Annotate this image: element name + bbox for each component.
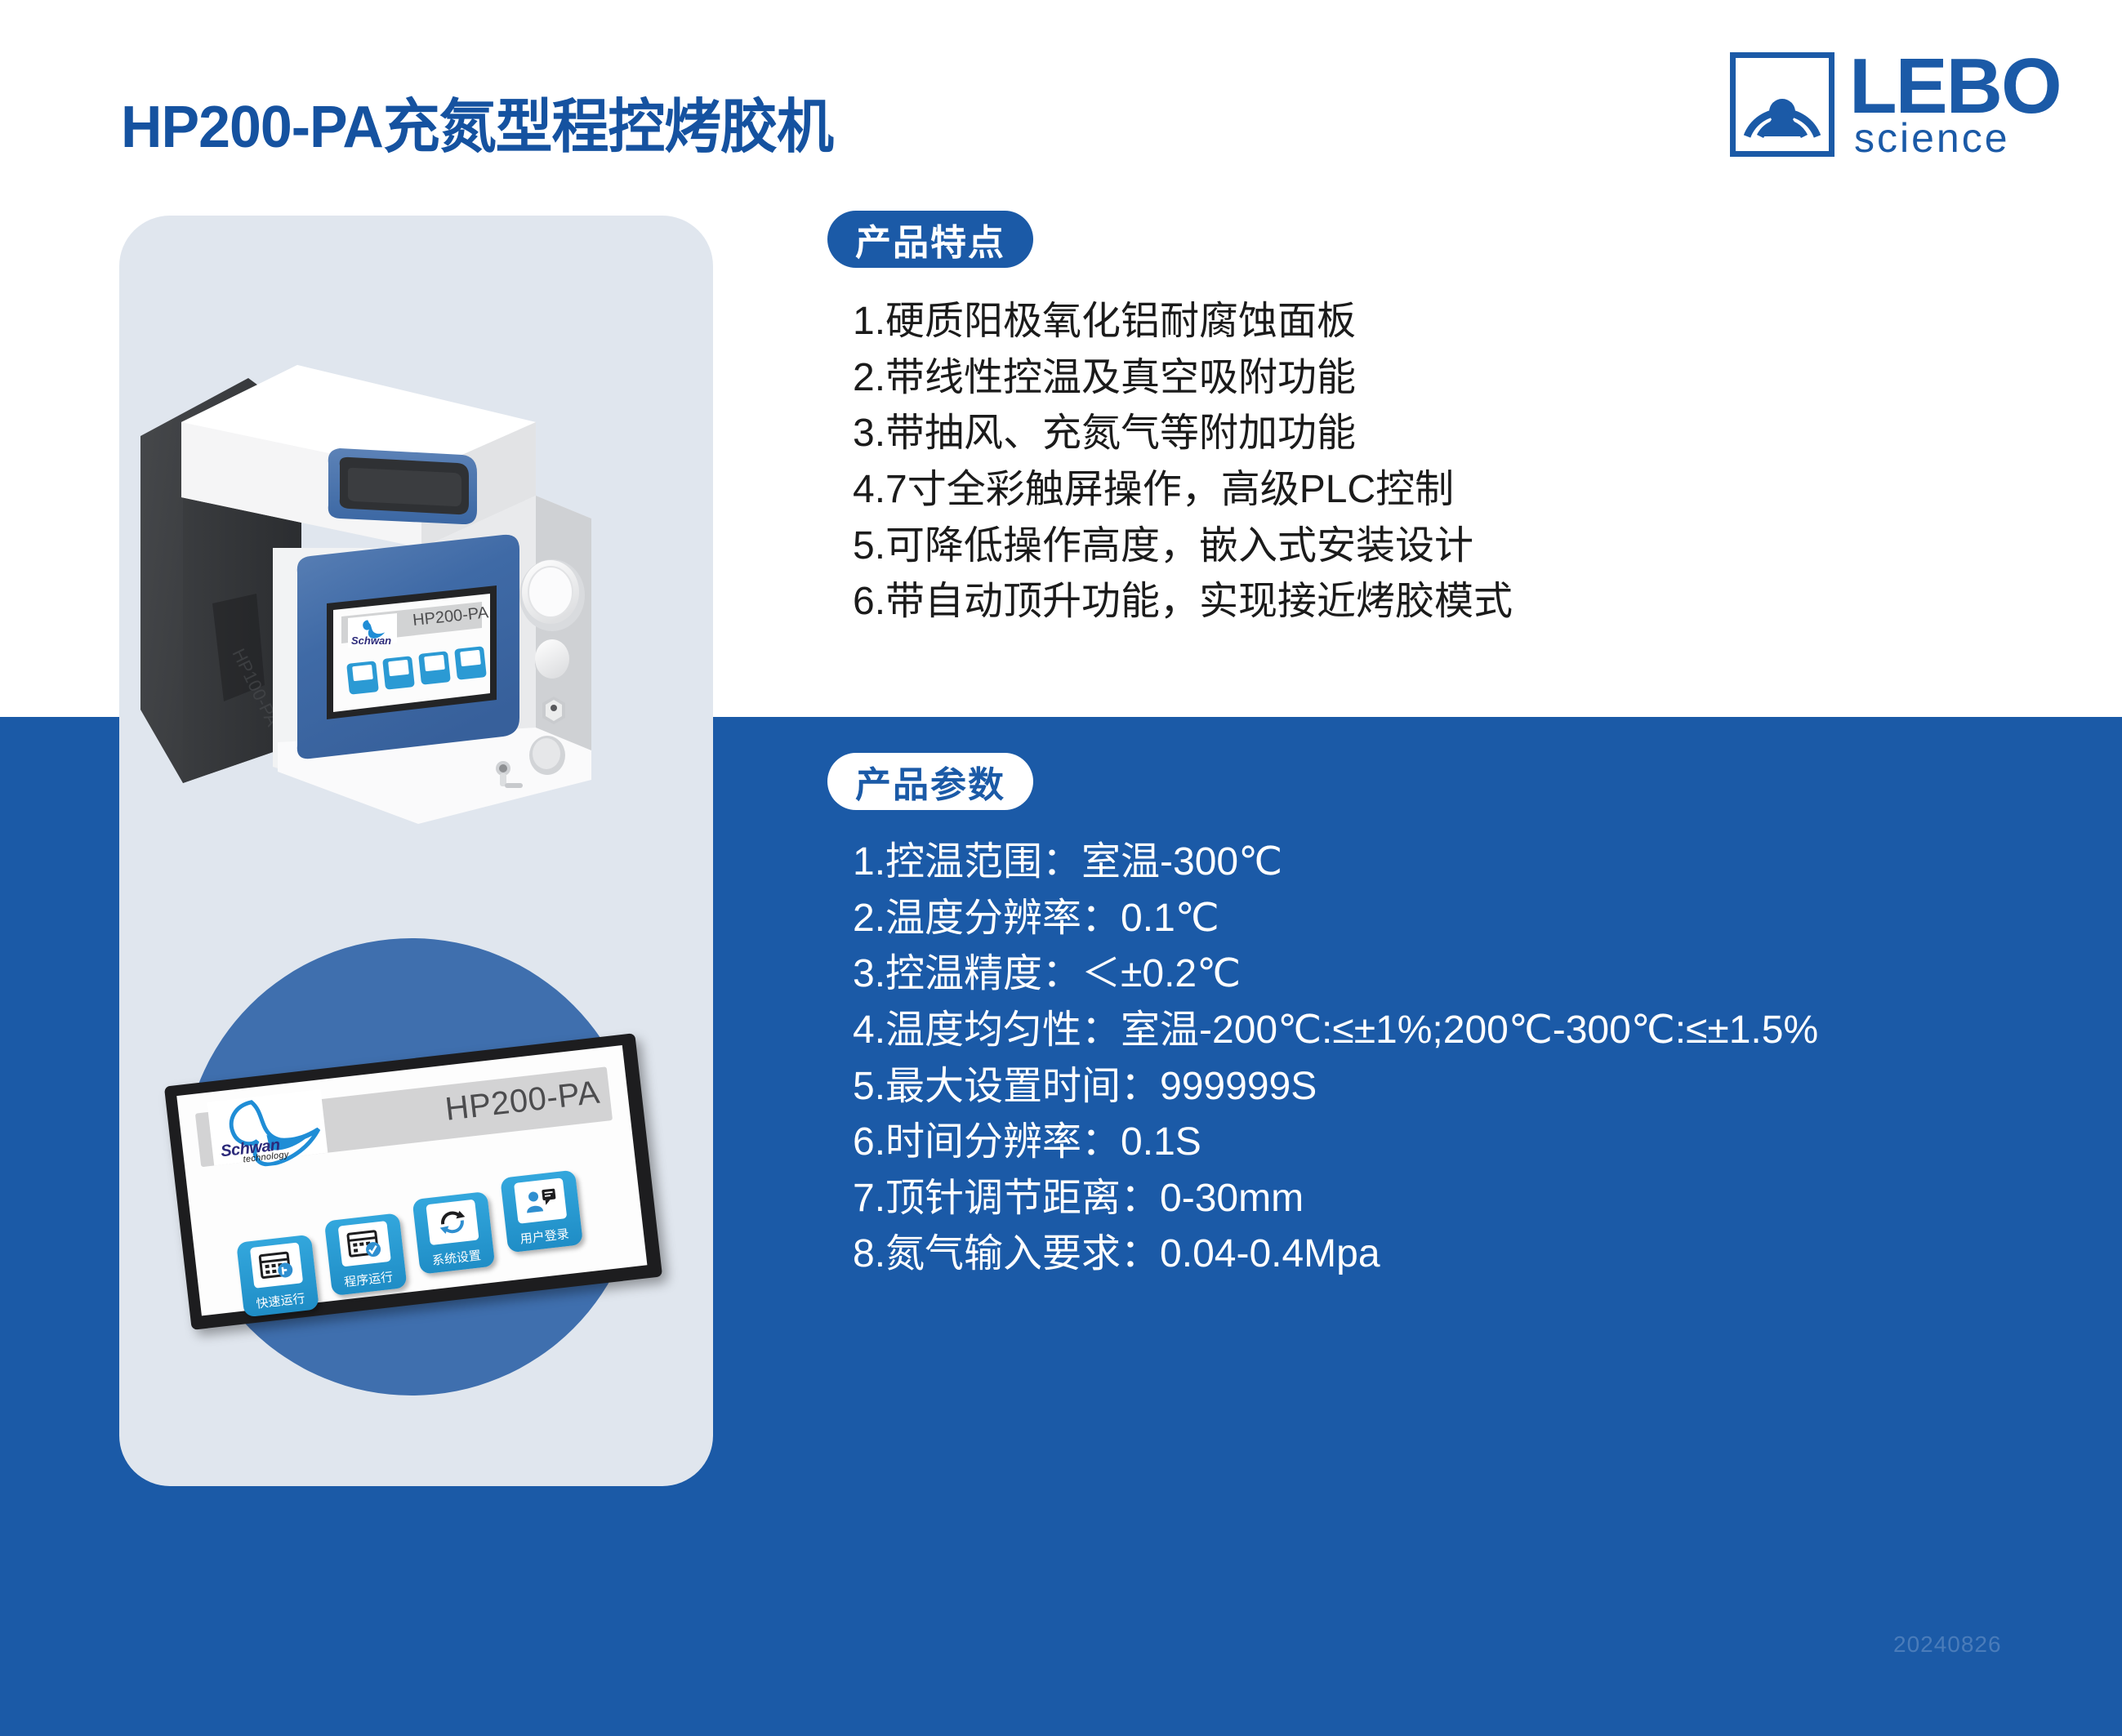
parameters-list: 1.控温范围：室温-300℃ 2.温度分辨率：0.1℃ 3.控温精度：＜±0.2… <box>841 835 2050 1283</box>
page-title: HP200-PA充氮型程控烤胶机 <box>121 78 833 164</box>
list-item: 5.最大设置时间：999999S <box>841 1059 2050 1115</box>
list-item: 3.控温精度：＜±0.2℃ <box>841 946 2050 1003</box>
screen-button-label: 用户登录 <box>506 1226 582 1247</box>
logo-wordmark: LEBO <box>1849 47 2061 126</box>
radiating-signal-icon <box>1730 52 1834 157</box>
date-watermark: 20240826 <box>1893 1633 2002 1656</box>
product-photo-card: HP100-PA <box>119 216 713 1486</box>
touchscreen-photo: Schwan technology HP200-PA <box>150 938 673 1461</box>
list-item: 6.时间分辨率：0.1S <box>841 1115 2050 1171</box>
machine-photo: HP100-PA <box>134 358 706 824</box>
features-list: 1.硬质阳极氧化铝耐腐蚀面板 2.带线性控温及真空吸附功能 3.带抽风、充氮气等… <box>841 294 2050 630</box>
list-item: 1.硬质阳极氧化铝耐腐蚀面板 <box>841 294 2050 350</box>
program-run-icon <box>338 1221 391 1266</box>
svg-text:Schwan: Schwan <box>351 634 391 647</box>
list-item: 8.氮气输入要求：0.04-0.4Mpa <box>841 1226 2050 1283</box>
list-item: 6.带自动顶升功能，实现接近烤胶模式 <box>841 574 2050 630</box>
list-item: 7.顶针调节距离：0-30mm <box>841 1171 2050 1227</box>
screen-button-user-login[interactable]: 用户登录 <box>500 1170 583 1253</box>
refresh-settings-icon <box>426 1200 479 1245</box>
list-item: 4.温度均匀性：室温-200℃:≤±1%;200℃-300℃:≤±1.5% <box>841 1003 2050 1059</box>
parameters-section-pill: 产品参数 <box>827 753 1033 810</box>
screen-button-label: 快速运行 <box>243 1291 319 1311</box>
list-item: 5.可降低操作高度，嵌入式安装设计 <box>841 519 2050 575</box>
quick-run-icon <box>250 1242 303 1288</box>
logo-subtext: science <box>1854 118 2010 158</box>
user-login-icon <box>514 1177 567 1223</box>
datasheet-page: HP200-PA充氮型程控烤胶机 LEBO science <box>0 0 2122 1736</box>
screen-button-quick-run[interactable]: 快速运行 <box>236 1235 319 1318</box>
screen-button-program-run[interactable]: 程序运行 <box>324 1213 408 1296</box>
list-item: 1.控温范围：室温-300℃ <box>841 835 2050 891</box>
list-item: 3.带抽风、充氮气等附加功能 <box>841 406 2050 462</box>
screen-button-label: 系统设置 <box>418 1248 494 1268</box>
screen-button-label: 程序运行 <box>331 1270 407 1290</box>
features-section-pill: 产品特点 <box>827 211 1033 268</box>
screen-button-system-settings[interactable]: 系统设置 <box>412 1191 496 1275</box>
list-item: 2.温度分辨率：0.1℃ <box>841 891 2050 947</box>
list-item: 4.7寸全彩触屏操作，高级PLC控制 <box>841 462 2050 519</box>
list-item: 2.带线性控温及真空吸附功能 <box>841 350 2050 407</box>
lebo-logo: LEBO science <box>1730 51 2057 157</box>
